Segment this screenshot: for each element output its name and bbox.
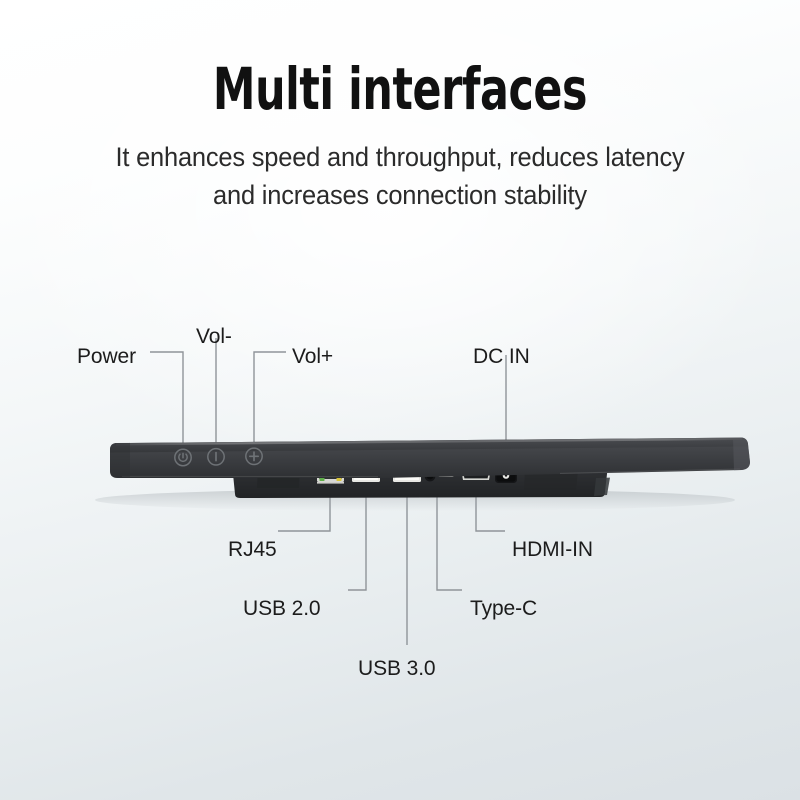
leader-type-c <box>437 487 462 590</box>
device-front-body <box>110 438 750 478</box>
volume-down-button[interactable] <box>208 449 224 465</box>
usb-port-1 <box>352 466 380 482</box>
callout-label-hdmi-in: HDMI-IN <box>512 538 593 562</box>
heading-block: Multi interfaces It enhances speed and t… <box>0 58 800 214</box>
rj45-port <box>317 465 344 484</box>
panel-right-cap <box>594 478 610 496</box>
callout-label-usb30: USB 3.0 <box>358 657 436 681</box>
device-shadow <box>95 489 735 511</box>
dc-in-port <box>495 468 517 483</box>
volume-up-button[interactable] <box>246 448 262 464</box>
subtitle-line-1: It enhances speed and throughput, reduce… <box>16 138 784 176</box>
infographic-page: Multi interfaces It enhances speed and t… <box>0 0 800 800</box>
leader-usb20 <box>348 487 366 590</box>
device-rear-panel <box>232 461 608 498</box>
callout-label-rj45: RJ45 <box>228 538 277 562</box>
usb-port-2 <box>393 466 421 482</box>
audio-jack-port <box>425 471 436 482</box>
callout-label-type-c: Type-C <box>470 597 537 621</box>
hdmi-port <box>461 469 491 480</box>
subtitle-line-2: and increases connection stability <box>16 176 784 214</box>
callout-label-vol-down: Vol- <box>196 325 232 349</box>
callout-label-usb20: USB 2.0 <box>243 597 321 621</box>
port-cluster <box>317 465 517 484</box>
callout-label-vol-up: Vol+ <box>292 345 333 369</box>
leader-hdmi-in <box>476 487 505 531</box>
control-buttons <box>175 448 262 466</box>
type-c-port <box>437 471 455 477</box>
page-title: Multi interfaces <box>72 58 728 120</box>
leader-power <box>150 352 183 455</box>
callout-label-dc-in: DC IN <box>473 345 530 369</box>
power-button[interactable] <box>175 449 191 465</box>
callout-label-power: Power <box>77 345 136 369</box>
page-subtitle: It enhances speed and throughput, reduce… <box>16 138 784 214</box>
leader-rj45 <box>278 487 330 531</box>
leader-vol-up <box>254 352 286 455</box>
